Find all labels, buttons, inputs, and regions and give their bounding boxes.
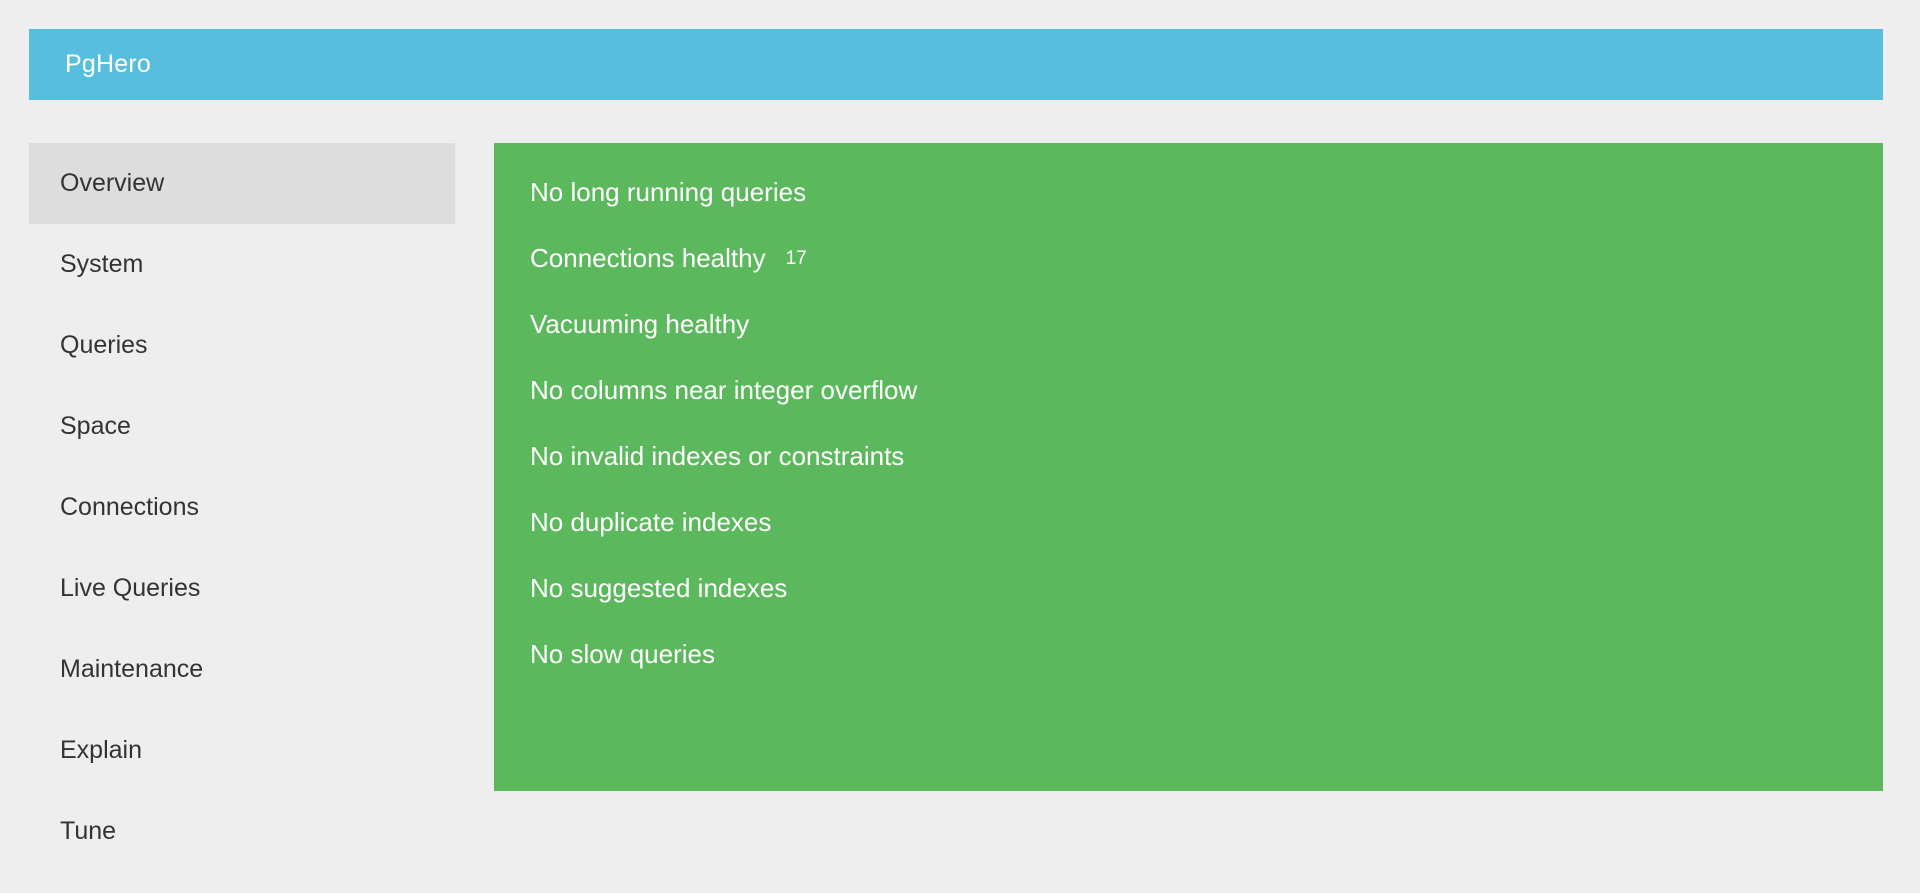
alert-label: No suggested indexes <box>530 573 787 604</box>
alert-row[interactable]: Vacuuming healthy <box>494 291 1883 357</box>
sidebar-nav: OverviewSystemQueriesSpaceConnectionsLiv… <box>29 143 455 872</box>
sidebar-item-maintenance[interactable]: Maintenance <box>29 629 455 710</box>
sidebar-item-tune[interactable]: Tune <box>29 791 455 872</box>
alert-row[interactable]: No columns near integer overflow <box>494 357 1883 423</box>
alert-row[interactable]: Connections healthy17 <box>494 225 1883 291</box>
sidebar-item-space[interactable]: Space <box>29 386 455 467</box>
status-alert-panel: No long running queriesConnections healt… <box>494 143 1883 791</box>
sidebar-item-queries[interactable]: Queries <box>29 305 455 386</box>
sidebar-item-system[interactable]: System <box>29 224 455 305</box>
alert-row[interactable]: No invalid indexes or constraints <box>494 423 1883 489</box>
alert-label: No duplicate indexes <box>530 507 771 538</box>
alert-label: No invalid indexes or constraints <box>530 441 904 472</box>
alert-label: Vacuuming healthy <box>530 309 749 340</box>
alert-label: No slow queries <box>530 639 715 670</box>
alert-row[interactable]: No slow queries <box>494 621 1883 687</box>
top-navbar: PgHero <box>29 29 1883 100</box>
alert-count-badge: 17 <box>786 248 807 270</box>
sidebar-item-overview[interactable]: Overview <box>29 143 455 224</box>
sidebar-item-connections[interactable]: Connections <box>29 467 455 548</box>
pghero-dashboard: PgHero OverviewSystemQueriesSpaceConnect… <box>0 0 1920 893</box>
alert-label: No columns near integer overflow <box>530 375 917 406</box>
sidebar-item-explain[interactable]: Explain <box>29 710 455 791</box>
main-content: OverviewSystemQueriesSpaceConnectionsLiv… <box>29 143 1883 843</box>
alert-row[interactable]: No long running queries <box>494 159 1883 225</box>
brand-link[interactable]: PgHero <box>65 52 151 77</box>
alert-row[interactable]: No suggested indexes <box>494 555 1883 621</box>
alert-label: Connections healthy <box>530 243 766 274</box>
alert-row[interactable]: No duplicate indexes <box>494 489 1883 555</box>
alert-label: No long running queries <box>530 177 806 208</box>
sidebar-item-live-queries[interactable]: Live Queries <box>29 548 455 629</box>
